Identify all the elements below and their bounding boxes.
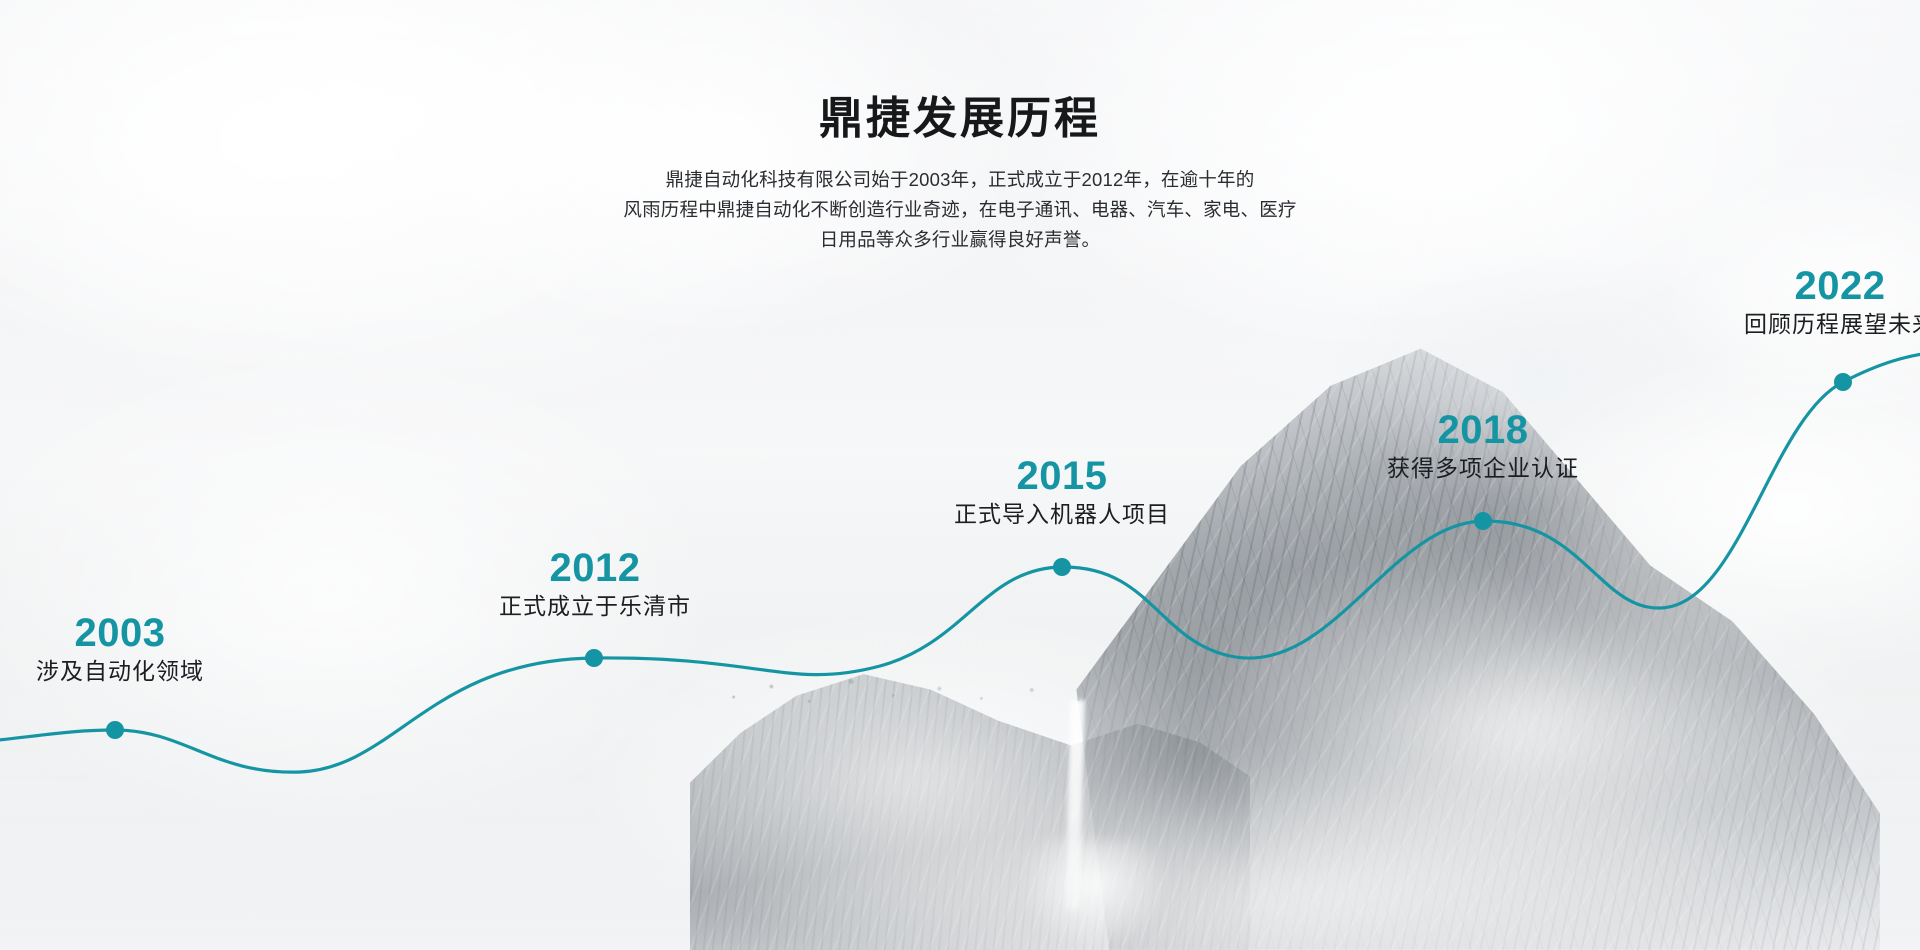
page-description: 鼎捷自动化科技有限公司始于2003年，正式成立于2012年，在逾十年的 风雨历程…	[0, 165, 1920, 255]
milestone-label: 获得多项企业认证	[1243, 455, 1723, 483]
timeline-node-2015[interactable]	[1053, 558, 1071, 576]
header: 鼎捷发展历程 鼎捷自动化科技有限公司始于2003年，正式成立于2012年，在逾十…	[0, 0, 1920, 255]
description-line-1: 鼎捷自动化科技有限公司始于2003年，正式成立于2012年，在逾十年的	[0, 165, 1920, 195]
milestone-2018[interactable]: 2018 获得多项企业认证	[1243, 409, 1723, 483]
milestone-2022[interactable]: 2022 回顾历程展望未来	[1640, 265, 1920, 339]
timeline-node-2018[interactable]	[1474, 512, 1492, 530]
milestone-label: 正式导入机器人项目	[822, 501, 1302, 529]
page-title: 鼎捷发展历程	[0, 95, 1920, 143]
milestone-2003[interactable]: 2003 涉及自动化领域	[0, 612, 240, 686]
milestone-2012[interactable]: 2012 正式成立于乐清市	[355, 547, 835, 621]
milestone-label: 涉及自动化领域	[0, 658, 240, 686]
milestone-year: 2003	[0, 612, 240, 654]
milestone-label: 回顾历程展望未来	[1640, 311, 1920, 339]
milestone-2015[interactable]: 2015 正式导入机器人项目	[822, 455, 1302, 529]
milestone-year: 2018	[1243, 409, 1723, 451]
timeline-node-2012[interactable]	[585, 649, 603, 667]
milestone-year: 2012	[355, 547, 835, 589]
milestone-year: 2015	[822, 455, 1302, 497]
milestone-year: 2022	[1640, 265, 1920, 307]
description-line-3: 日用品等众多行业赢得良好声誉。	[0, 225, 1920, 255]
description-line-2: 风雨历程中鼎捷自动化不断创造行业奇迹，在电子通讯、电器、汽车、家电、医疗	[0, 195, 1920, 225]
timeline-infographic: 鼎捷发展历程 鼎捷自动化科技有限公司始于2003年，正式成立于2012年，在逾十…	[0, 0, 1920, 950]
timeline-node-2022[interactable]	[1834, 373, 1852, 391]
timeline-node-2003[interactable]	[106, 721, 124, 739]
milestone-label: 正式成立于乐清市	[355, 593, 835, 621]
